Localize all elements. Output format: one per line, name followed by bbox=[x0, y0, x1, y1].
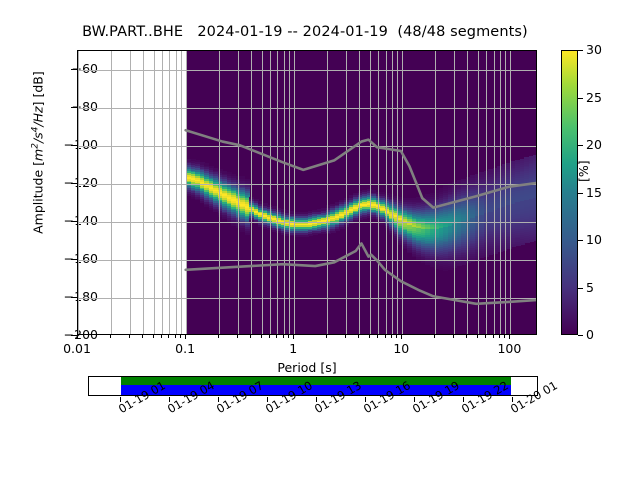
colorbar-tick-mark bbox=[578, 98, 583, 99]
colorbar-tick-mark bbox=[578, 240, 583, 241]
x-tick-minor bbox=[485, 335, 486, 338]
x-tick-minor bbox=[153, 335, 154, 338]
x-tick-label: 10 bbox=[371, 341, 431, 356]
colorbar-tick-label: 15 bbox=[586, 185, 602, 200]
x-tick-minor bbox=[129, 335, 130, 338]
x-tick-label: 100 bbox=[479, 341, 539, 356]
nhnm-line bbox=[186, 130, 536, 207]
colorbar-tick-label: 5 bbox=[586, 280, 594, 295]
x-tick-major bbox=[509, 335, 510, 339]
x-tick-minor bbox=[276, 335, 277, 338]
x-tick-minor bbox=[453, 335, 454, 338]
x-tick-minor bbox=[288, 335, 289, 338]
x-axis-label: Period [s] bbox=[77, 360, 537, 375]
x-tick-major bbox=[185, 335, 186, 339]
x-tick-minor bbox=[377, 335, 378, 338]
x-tick-minor bbox=[345, 335, 346, 338]
figure-title: BW.PART..BHE 2024-01-19 -- 2024-01-19 (4… bbox=[0, 24, 610, 40]
x-tick-minor bbox=[168, 335, 169, 338]
x-tick-minor bbox=[385, 335, 386, 338]
colorbar-tick-label: 0 bbox=[586, 327, 594, 342]
x-tick-minor bbox=[391, 335, 392, 338]
x-tick-label: 1 bbox=[263, 341, 323, 356]
x-tick-minor bbox=[283, 335, 284, 338]
x-tick-minor bbox=[180, 335, 181, 338]
x-tick-minor bbox=[250, 335, 251, 338]
x-tick-minor bbox=[499, 335, 500, 338]
x-tick-minor bbox=[237, 335, 238, 338]
x-tick-minor bbox=[110, 335, 111, 338]
x-tick-minor bbox=[493, 335, 494, 338]
x-tick-major bbox=[401, 335, 402, 339]
colorbar-tick-label: 25 bbox=[586, 90, 602, 105]
x-tick-minor bbox=[504, 335, 505, 338]
x-tick-major bbox=[77, 335, 78, 339]
noise-model-lines bbox=[78, 51, 536, 334]
ppsd-figure: BW.PART..BHE 2024-01-19 -- 2024-01-19 (4… bbox=[0, 0, 640, 480]
x-tick-minor bbox=[396, 335, 397, 338]
colorbar-tick-label: 10 bbox=[586, 232, 602, 247]
x-tick-label: 0.01 bbox=[47, 341, 107, 356]
x-tick-minor bbox=[369, 335, 370, 338]
x-tick-minor bbox=[269, 335, 270, 338]
colorbar-tick-mark bbox=[578, 335, 583, 336]
x-tick-minor bbox=[466, 335, 467, 338]
nlnm-line bbox=[186, 243, 536, 303]
x-tick-major bbox=[293, 335, 294, 339]
colorbar bbox=[561, 50, 578, 335]
colorbar-label: [%] bbox=[576, 122, 591, 182]
x-tick-minor bbox=[161, 335, 162, 338]
colorbar-tick-mark bbox=[578, 288, 583, 289]
x-tick-label: 0.1 bbox=[155, 341, 215, 356]
x-tick-minor bbox=[477, 335, 478, 338]
x-tick-minor bbox=[261, 335, 262, 338]
colorbar-tick-label: 30 bbox=[586, 42, 602, 57]
x-tick-minor bbox=[142, 335, 143, 338]
ppsd-plot-area[interactable] bbox=[77, 50, 537, 335]
colorbar-tick-mark bbox=[578, 193, 583, 194]
x-tick-minor bbox=[175, 335, 176, 338]
x-tick-minor bbox=[326, 335, 327, 338]
x-tick-minor bbox=[218, 335, 219, 338]
x-tick-minor bbox=[434, 335, 435, 338]
colorbar-tick-mark bbox=[578, 50, 583, 51]
x-tick-minor bbox=[358, 335, 359, 338]
